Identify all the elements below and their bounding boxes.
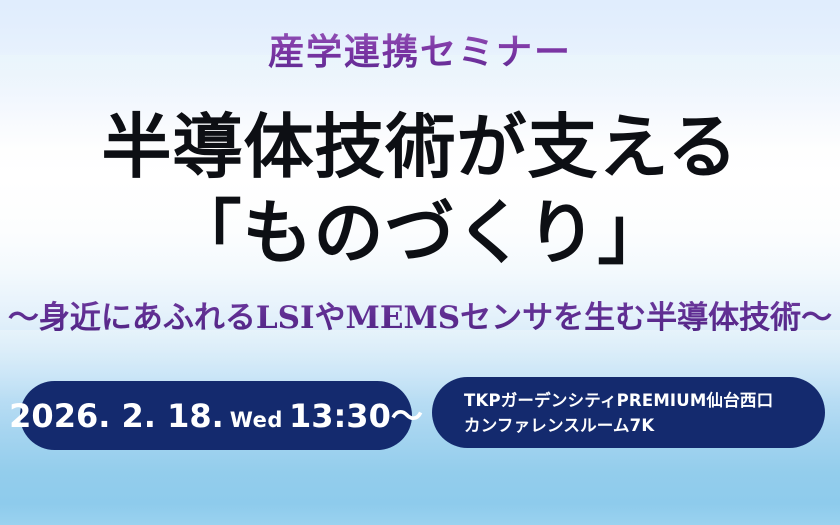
title-line-2: 「ものづくり」 (0, 190, 840, 276)
event-date: 2026. 2. 18. (9, 400, 224, 432)
venue-panel: TKPガーデンシティPREMIUM仙台西口 カンファレンスルーム7K (432, 377, 825, 448)
datetime-badge: 2026. 2. 18. Wed 13:30～ (20, 381, 412, 450)
kicker-text: 産学連携セミナー (0, 33, 840, 73)
event-time: 13:30～ (289, 400, 423, 432)
event-weekday: Wed (230, 410, 283, 431)
title-line-1: 半導体技術が支える (0, 104, 840, 190)
venue-line-2: カンファレンスルーム7K (464, 413, 825, 438)
page-title: 半導体技術が支える 「ものづくり」 (0, 104, 840, 276)
venue-line-1: TKPガーデンシティPREMIUM仙台西口 (464, 388, 825, 413)
datetime-text: 2026. 2. 18. Wed 13:30～ (9, 400, 423, 432)
subtitle-text: ～身近にあふれるLSIやMEMSセンサを生む半導体技術～ (0, 298, 840, 338)
seminar-banner: 産学連携セミナー 半導体技術が支える 「ものづくり」 ～身近にあふれるLSIやM… (0, 0, 840, 525)
